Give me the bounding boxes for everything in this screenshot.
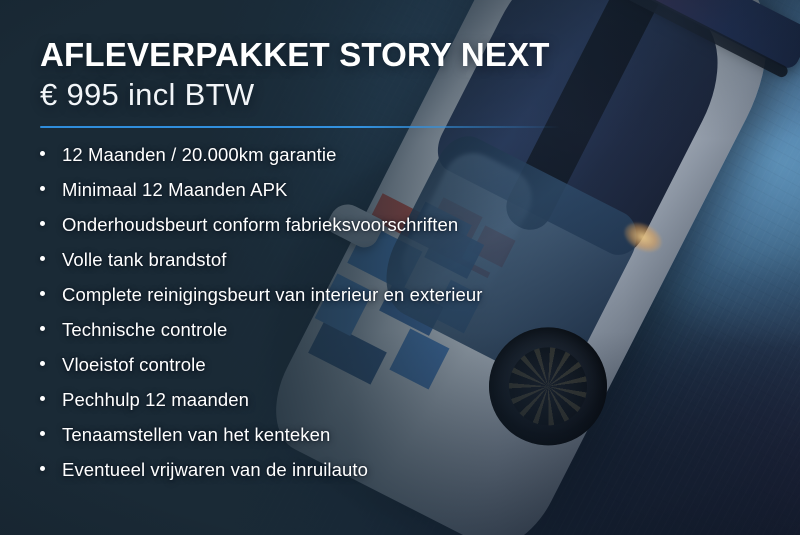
list-item: Minimaal 12 Maanden APK: [40, 179, 800, 214]
bullet-dot-icon: [40, 361, 45, 366]
banner-content: AFLEVERPAKKET STORY NEXT € 995 incl BTW …: [0, 0, 800, 535]
bullet-dot-icon: [40, 431, 45, 436]
list-item-label: Tenaamstellen van het kenteken: [62, 424, 330, 446]
bullet-dot-icon: [40, 221, 45, 226]
bullet-dot-icon: [40, 466, 45, 471]
list-item: Vloeistof controle: [40, 354, 800, 389]
list-item-label: 12 Maanden / 20.000km garantie: [62, 144, 337, 166]
bullet-dot-icon: [40, 186, 45, 191]
delivery-package-banner: AFLEVERPAKKET STORY NEXT € 995 incl BTW …: [0, 0, 800, 535]
bullet-dot-icon: [40, 396, 45, 401]
title-divider: [40, 126, 560, 128]
list-item: Volle tank brandstof: [40, 249, 800, 284]
bullet-dot-icon: [40, 326, 45, 331]
list-item-label: Pechhulp 12 maanden: [62, 389, 249, 411]
bullet-dot-icon: [40, 291, 45, 296]
page-title: AFLEVERPAKKET STORY NEXT: [40, 38, 800, 72]
list-item-label: Volle tank brandstof: [62, 249, 227, 271]
list-item-label: Onderhoudsbeurt conform fabrieksvoorschr…: [62, 214, 458, 236]
list-item-label: Complete reinigingsbeurt van interieur e…: [62, 284, 483, 306]
list-item: 12 Maanden / 20.000km garantie: [40, 144, 800, 179]
list-item: Pechhulp 12 maanden: [40, 389, 800, 424]
bullet-dot-icon: [40, 151, 45, 156]
list-item: Eventueel vrijwaren van de inruilauto: [40, 459, 800, 494]
list-item: Complete reinigingsbeurt van interieur e…: [40, 284, 800, 319]
list-item: Onderhoudsbeurt conform fabrieksvoorschr…: [40, 214, 800, 249]
list-item: Tenaamstellen van het kenteken: [40, 424, 800, 459]
list-item-label: Vloeistof controle: [62, 354, 206, 376]
bullet-dot-icon: [40, 256, 45, 261]
feature-list: 12 Maanden / 20.000km garantie Minimaal …: [40, 144, 800, 494]
list-item-label: Technische controle: [62, 319, 227, 341]
price-label: € 995 incl BTW: [40, 78, 800, 112]
list-item-label: Minimaal 12 Maanden APK: [62, 179, 287, 201]
list-item: Technische controle: [40, 319, 800, 354]
list-item-label: Eventueel vrijwaren van de inruilauto: [62, 459, 368, 481]
